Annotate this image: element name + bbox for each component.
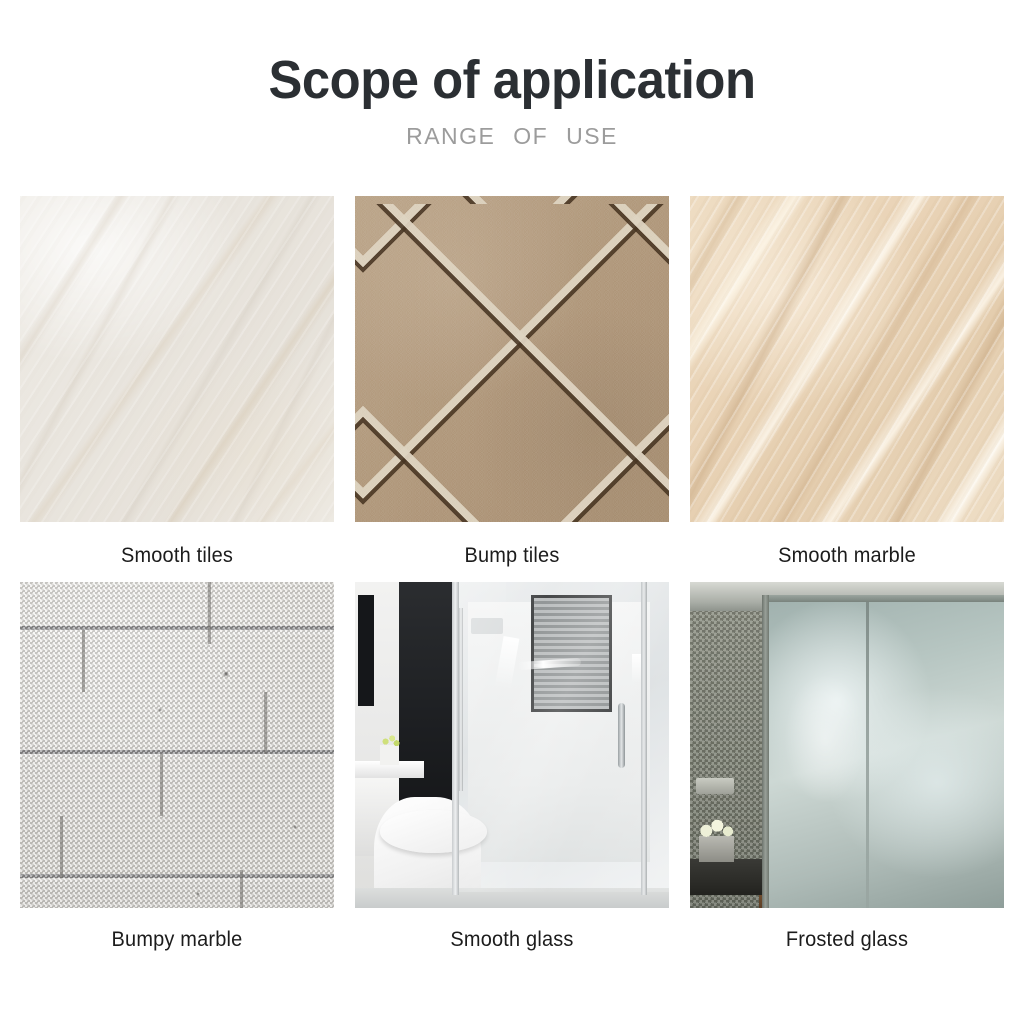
gallery-item-caption: Smooth marble [698, 522, 996, 580]
glass-door-pane [452, 582, 669, 892]
bumpy-marble-image [20, 582, 334, 908]
gallery-row-1: Smooth tiles Bump tiles Smooth marble [20, 196, 1004, 580]
bathroom-mirror-frame [358, 595, 374, 706]
glass-highlight [632, 654, 641, 683]
plant-leaves [379, 732, 401, 748]
gallery-item-caption: Smooth tiles [28, 522, 326, 580]
gallery-item-smooth-tiles[interactable]: Smooth tiles [20, 196, 334, 580]
gallery-item-caption: Bump tiles [363, 522, 661, 580]
glass-door-mullion-left [452, 582, 459, 895]
flower-pot [699, 836, 734, 862]
gallery-item-bump-tiles[interactable]: Bump tiles [355, 196, 669, 580]
page-header: Scope of application RANGE OF USE [0, 0, 1024, 150]
gallery-item-bumpy-marble[interactable]: Bumpy marble [20, 582, 334, 964]
frosted-glass-image [690, 582, 1004, 908]
gallery-item-smooth-glass[interactable]: Smooth glass [355, 582, 669, 964]
wall-switch [696, 778, 734, 794]
frosted-panel-seam [866, 595, 869, 908]
shower-door-handle [618, 703, 625, 768]
gallery-row-2: Bumpy marble [20, 582, 1004, 964]
smooth-glass-image [355, 582, 669, 908]
gallery-item-caption: Bumpy marble [28, 908, 326, 964]
bump-tiles-image [355, 196, 669, 522]
frosted-glass-highlight [784, 673, 866, 803]
application-gallery: Smooth tiles Bump tiles Smooth marble Bu… [20, 196, 1004, 964]
glass-door-mullion-right [641, 582, 647, 895]
frosted-panel-jamb [762, 595, 769, 908]
console-table [690, 859, 772, 895]
smooth-marble-image [690, 196, 1004, 522]
gallery-item-caption: Frosted glass [698, 908, 996, 964]
gallery-item-frosted-glass[interactable]: Frosted glass [690, 582, 1004, 964]
frosted-panel-rail [765, 595, 1004, 602]
page-title: Scope of application [31, 52, 994, 109]
gallery-item-caption: Smooth glass [363, 908, 661, 964]
flowers [696, 817, 737, 840]
smooth-tiles-image [20, 196, 334, 522]
gallery-item-smooth-marble[interactable]: Smooth marble [690, 196, 1004, 580]
page-subtitle: RANGE OF USE [0, 123, 1024, 150]
